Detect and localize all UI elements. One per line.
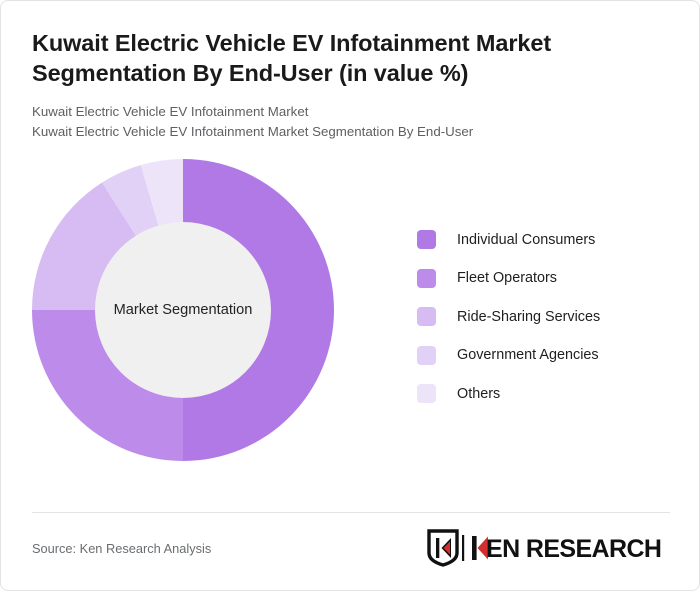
ken-research-wordmark: EN RESEARCH (462, 533, 670, 563)
subtitle-market: Kuwait Electric Vehicle EV Infotainment … (32, 102, 670, 122)
legend-item[interactable]: Government Agencies (417, 336, 687, 375)
chart-card: Kuwait Electric Vehicle EV Infotainment … (0, 0, 700, 591)
subtitle-segmentation: Kuwait Electric Vehicle EV Infotainment … (32, 122, 670, 142)
svg-text:EN RESEARCH: EN RESEARCH (486, 535, 661, 563)
legend-swatch-icon (417, 346, 436, 365)
legend-item[interactable]: Ride-Sharing Services (417, 298, 687, 337)
breadcrumb: Kuwait Electric Vehicle EV Infotainment … (32, 102, 670, 142)
chart-area: Market Segmentation Individual Consumers… (32, 159, 670, 489)
donut-svg (32, 159, 334, 461)
legend-item-label: Fleet Operators (457, 270, 557, 286)
donut-hole (95, 222, 271, 398)
chart-card-inner: Kuwait Electric Vehicle EV Infotainment … (1, 1, 700, 591)
chart-footer: Source: Ken Research Analysis EN RESEARC… (32, 526, 670, 570)
legend-item[interactable]: Fleet Operators (417, 259, 687, 298)
brand-logo: EN RESEARCH (426, 529, 670, 567)
legend-swatch-icon (417, 307, 436, 326)
donut-chart: Market Segmentation (32, 159, 334, 461)
legend-item-label: Government Agencies (457, 347, 599, 363)
legend-swatch-icon (417, 269, 436, 288)
legend-item[interactable]: Others (417, 375, 687, 414)
legend-item-label: Others (457, 386, 500, 402)
legend-item[interactable]: Individual Consumers (417, 221, 687, 260)
legend-item-label: Ride-Sharing Services (457, 309, 600, 325)
chart-legend: Individual Consumers Fleet Operators Rid… (417, 221, 687, 414)
ken-research-shield-icon (426, 529, 460, 567)
legend-item-label: Individual Consumers (457, 232, 595, 248)
legend-swatch-icon (417, 384, 436, 403)
legend-swatch-icon (417, 230, 436, 249)
footer-divider (32, 512, 670, 513)
page-title: Kuwait Electric Vehicle EV Infotainment … (32, 1, 632, 88)
source-text: Source: Ken Research Analysis (32, 541, 211, 556)
